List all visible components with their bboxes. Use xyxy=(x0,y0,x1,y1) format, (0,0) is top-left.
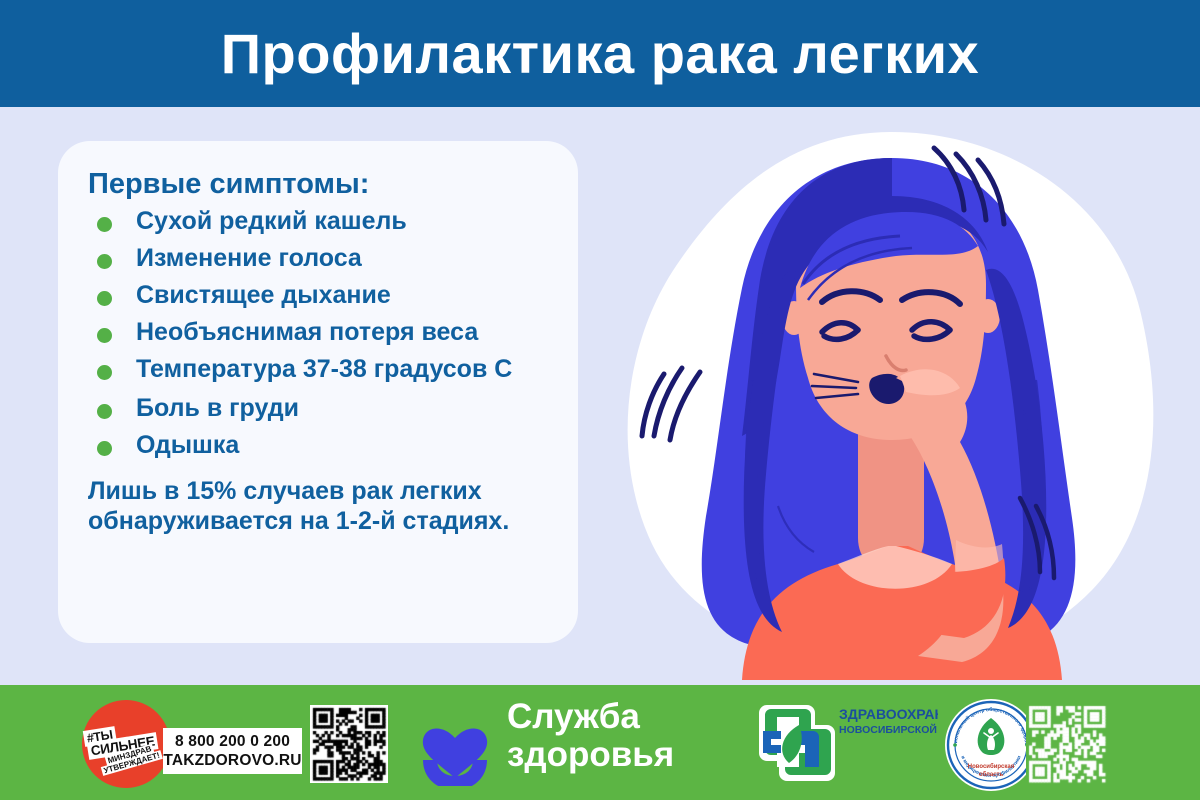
qr-canvas-left xyxy=(310,705,388,783)
poster-root: Профилактика рака легких Первые симптомы… xyxy=(0,0,1200,800)
list-item: Свистящее дыхание xyxy=(88,281,552,310)
nso-line2-text: НОВОСИБИРСКОЙ ОБЛАСТИ xyxy=(839,723,938,736)
health-service-line2: здоровья xyxy=(507,736,737,774)
seal-center-line1: Новосибирская xyxy=(968,763,1015,770)
list-item: Сухой редкий кашель xyxy=(88,207,552,236)
bullet-dot-icon xyxy=(97,441,112,456)
bullet-dot-icon xyxy=(97,365,112,380)
nso-line1-text: ЗДРАВООХРАНЕНИЕ xyxy=(839,706,938,722)
health-service-title: Служба здоровья xyxy=(507,698,737,774)
qr-code-takzdorovo-icon[interactable] xyxy=(310,705,388,783)
list-item-label: Свистящее дыхание xyxy=(136,281,391,309)
bullet-dot-icon xyxy=(97,291,112,306)
header-banner: Профилактика рака легких xyxy=(0,0,1200,107)
bullet-dot-icon xyxy=(97,328,112,343)
list-item: Температура 37-38 градусов С xyxy=(88,355,552,384)
health-service-logo-icon xyxy=(415,702,495,786)
regional-center-seal-logo: Региональный центр общественного здоровь… xyxy=(944,698,1038,792)
bullet-dot-icon xyxy=(97,254,112,269)
seal-center-line2: область xyxy=(979,771,1004,778)
list-item-label: Изменение голоса xyxy=(136,244,362,272)
nso-health-logo: ЗДРАВООХРАНЕНИЕ НОВОСИБИРСКОЙ ОБЛАСТИ xyxy=(733,697,938,789)
coughing-woman-illustration xyxy=(600,120,1185,680)
list-item-label: Одышка xyxy=(136,431,239,459)
qr-code-nso-icon[interactable] xyxy=(1026,703,1108,785)
health-service-line1: Служба xyxy=(507,698,737,736)
page-title: Профилактика рака легких xyxy=(201,26,999,82)
list-item-label: Необъяснимая потеря веса xyxy=(136,318,478,346)
takzdorovo-badge: #ТЫ СИЛЬНЕЕ МИНЗДРАВ УТВЕРЖДАЕТ! xyxy=(82,700,150,768)
card-title: Первые симптомы: xyxy=(88,169,552,201)
qr-canvas-right xyxy=(1026,703,1108,785)
hotline-website: TAKZDOROVO.RU xyxy=(163,751,301,770)
statistic-note: Лишь в 15% случаев рак легких обнаружива… xyxy=(88,476,552,536)
list-item-label: Боль в груди xyxy=(136,394,299,422)
takzdorovo-contact-plate: 8 800 200 0 200 TAKZDOROVO.RU xyxy=(163,728,302,774)
list-item: Изменение голоса xyxy=(88,244,552,273)
list-item-label: Сухой редкий кашель xyxy=(136,207,407,235)
list-item: Необъяснимая потеря веса xyxy=(88,318,552,347)
symptoms-card: Первые симптомы: Сухой редкий кашель Изм… xyxy=(58,141,578,643)
bullet-dot-icon xyxy=(97,217,112,232)
list-item: Одышка xyxy=(88,431,552,460)
symptoms-list: Сухой редкий кашель Изменение голоса Сви… xyxy=(88,207,552,460)
bullet-dot-icon xyxy=(97,404,112,419)
list-item: Боль в груди xyxy=(88,394,552,423)
hotline-phone: 8 800 200 0 200 xyxy=(175,732,290,751)
list-item-label: Температура 37-38 градусов С xyxy=(136,355,512,383)
